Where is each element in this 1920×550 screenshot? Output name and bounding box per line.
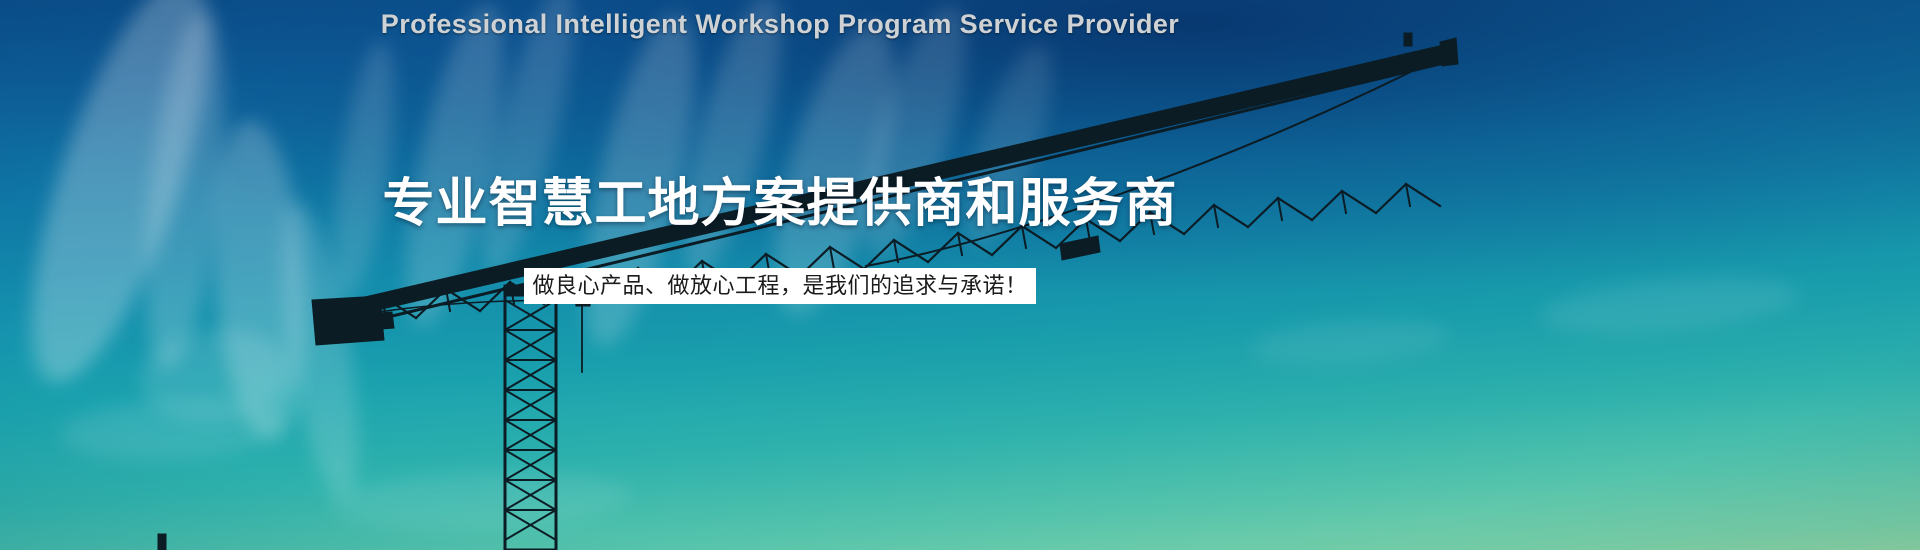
banner-eyebrow-text: Professional Intelligent Workshop Progra… xyxy=(0,9,1560,40)
banner-subtitle-text: 做良心产品、做放心工程，是我们的追求与承诺！ xyxy=(524,268,1035,304)
hero-banner: Professional Intelligent Workshop Progra… xyxy=(0,0,1920,550)
page-title: 专业智慧工地方案提供商和服务商 xyxy=(0,161,1560,236)
banner-subtitle-container: 做良心产品、做放心工程，是我们的追求与承诺！ xyxy=(0,268,1560,304)
